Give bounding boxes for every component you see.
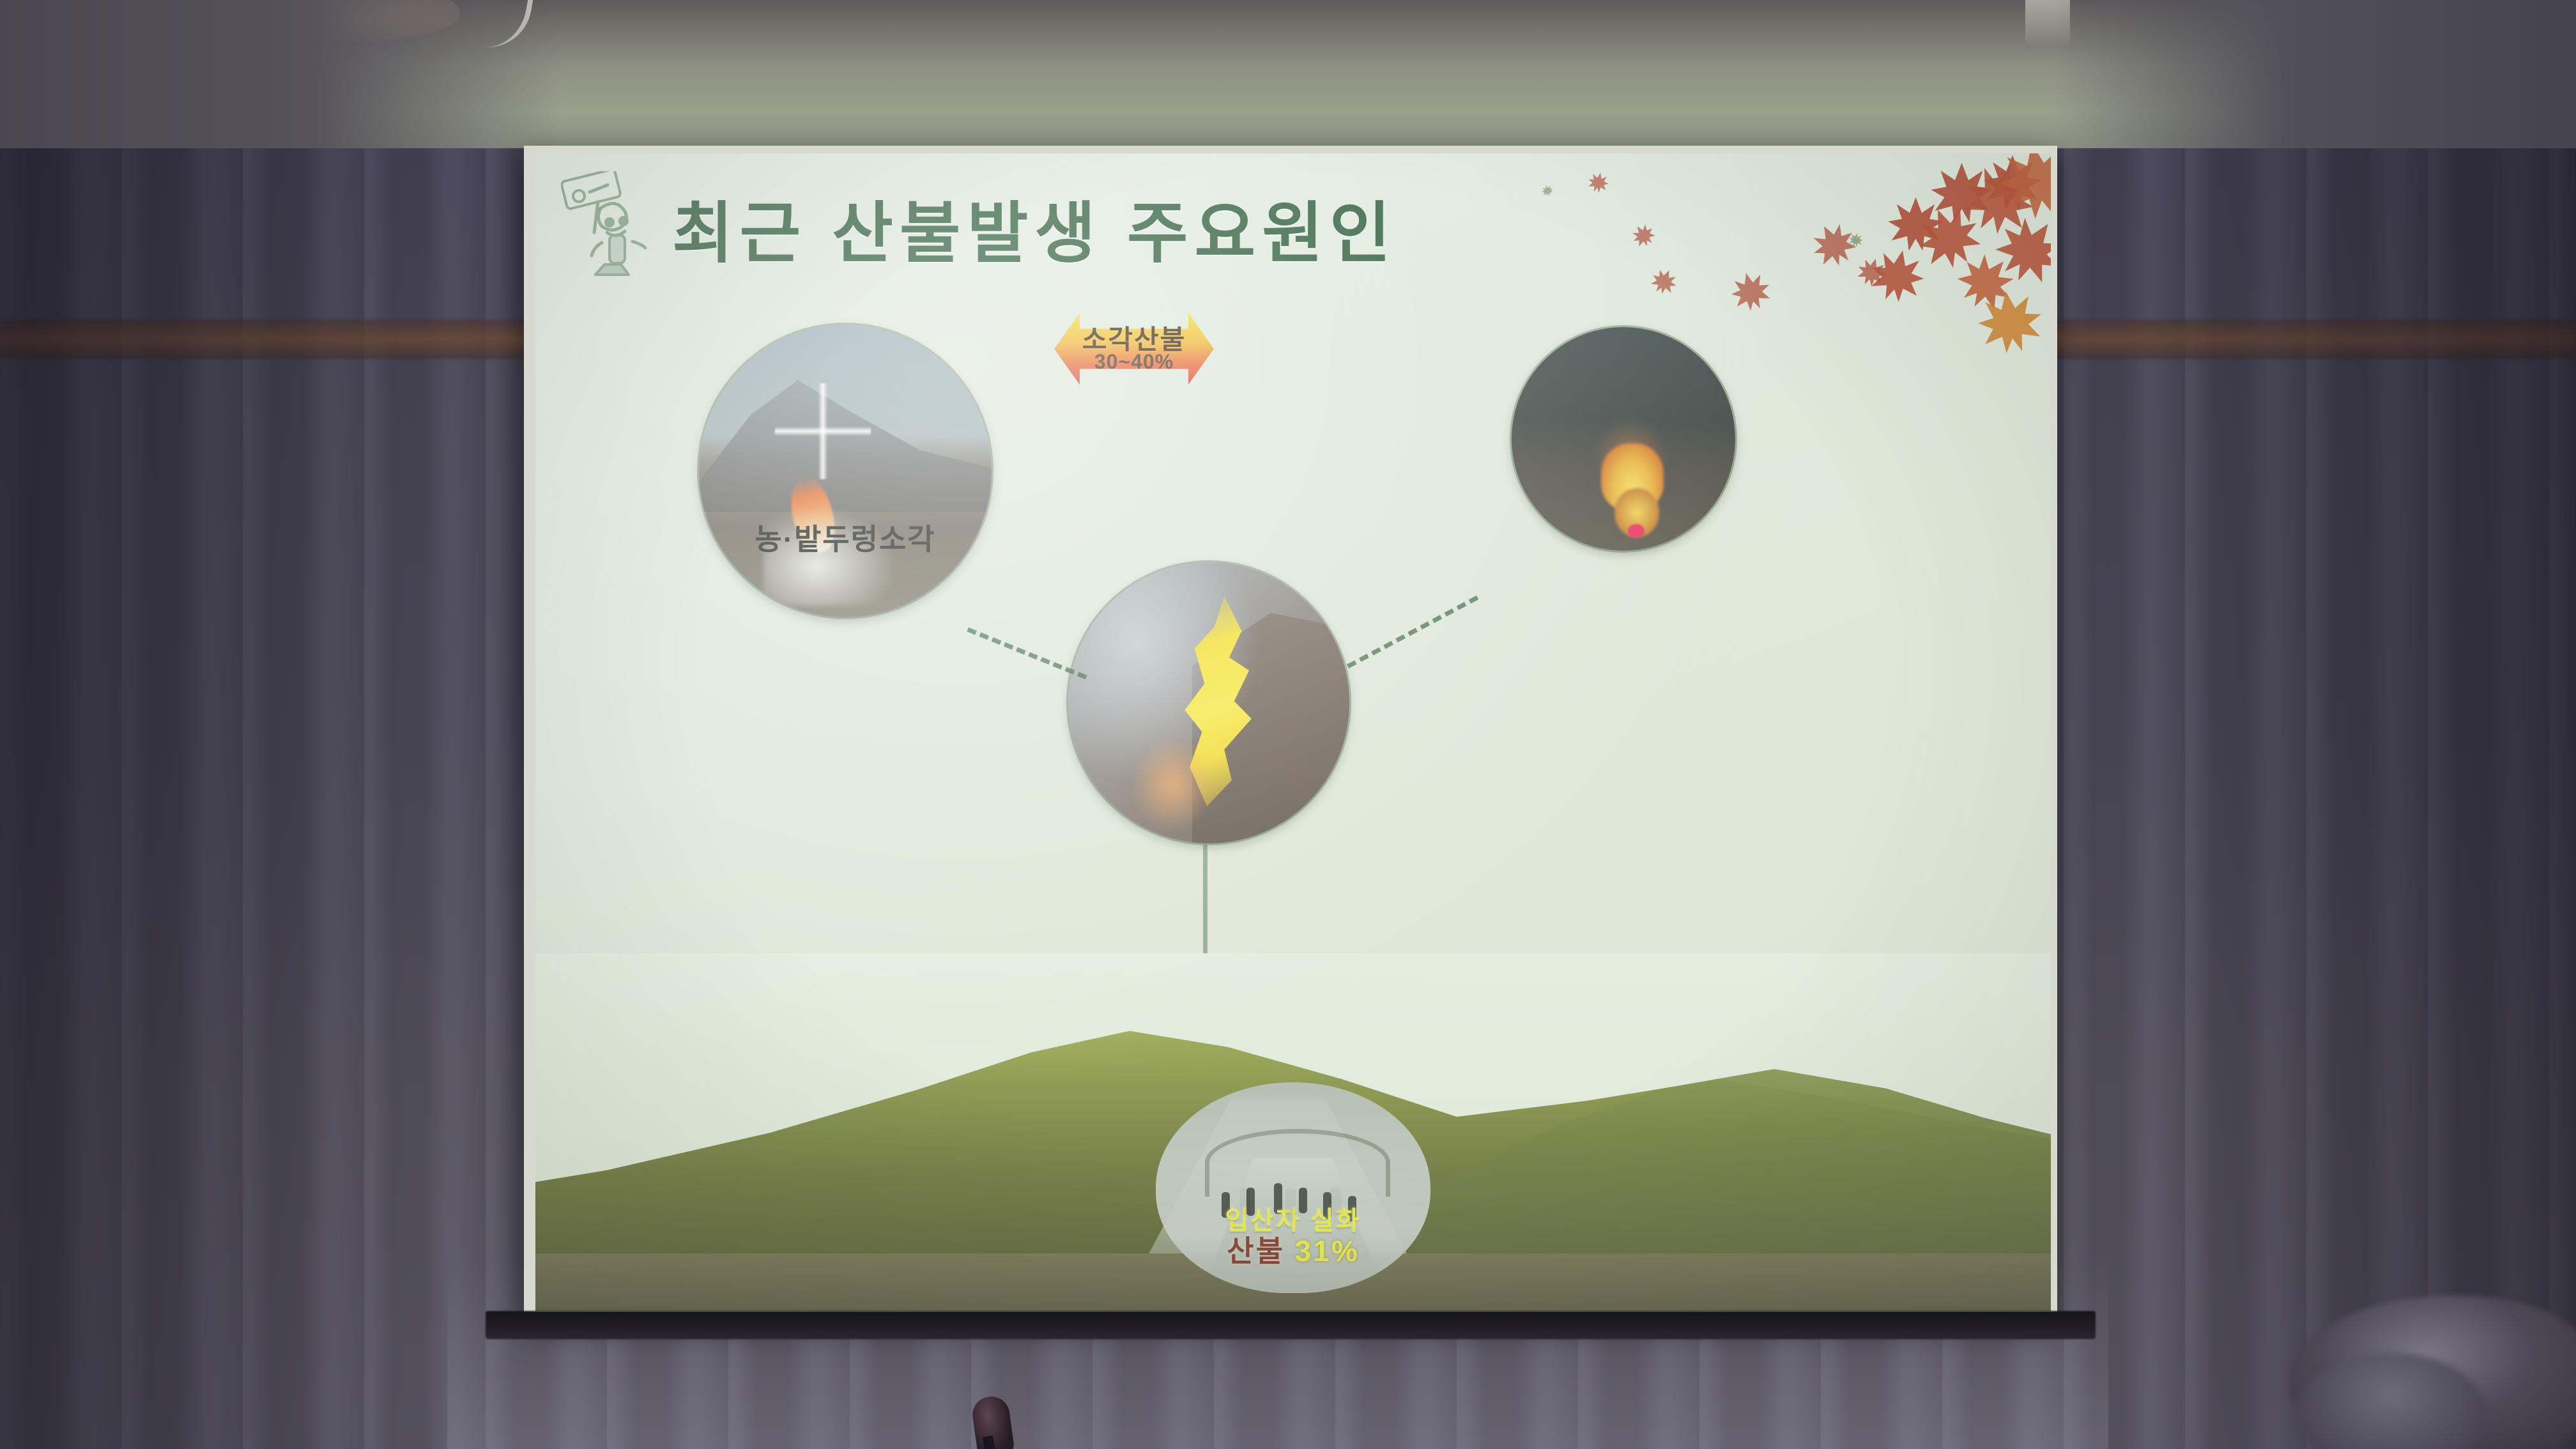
curtain-shadow-right: [2129, 148, 2576, 1449]
connector-center-to-bottom: [1203, 845, 1207, 960]
bottom-caption-line2: 산불 31%: [1156, 1228, 1430, 1270]
curtain-shadow-left: [0, 148, 409, 1449]
lens-flare: [775, 383, 871, 479]
ember-dot: [1628, 524, 1644, 538]
ceiling-shadow-left: [0, 0, 562, 148]
page-title: 최근 산불발생 주요원인: [672, 179, 1397, 275]
ember-glow: [1130, 737, 1215, 832]
connector-center-to-right: [1347, 595, 1478, 668]
night-burning-image: [1512, 327, 1735, 551]
ceiling-shadow-right: [2052, 0, 2576, 148]
tree-canopy-arch: [1205, 1129, 1390, 1197]
circle-photo-field-ridge-burning: 농·밭두렁소각: [699, 325, 992, 617]
projection-screen-weight-bar: [486, 1311, 2096, 1339]
forest-fire-image: [1068, 562, 1349, 843]
slide-title-row: 최근 산불발생 주요원인: [561, 171, 1397, 283]
bottom-caption-label: 산불: [1227, 1234, 1285, 1268]
hikers-inset-photo: 입산자 실화 산불 31%: [1156, 1082, 1430, 1293]
mountain-landscape-photo: 입산자 실화 산불 31%: [535, 953, 2051, 1311]
circle-caption-left: 농·밭두렁소각: [699, 516, 992, 558]
bottom-caption-percent: 31%: [1295, 1234, 1360, 1268]
photo-of-presentation-room: 최근 산불발생 주요원인 농·밭두렁소각: [0, 0, 2576, 1449]
arrow-percent: 30~40%: [1054, 350, 1214, 374]
circle-photo-night-burning: [1512, 327, 1735, 551]
field-ridge-burning-image: [699, 325, 992, 617]
projected-slide: 최근 산불발생 주요원인 농·밭두렁소각: [535, 153, 2051, 1311]
forest-ranger-mascot-icon: [561, 171, 657, 283]
circle-photo-forest-fire: [1068, 562, 1349, 843]
